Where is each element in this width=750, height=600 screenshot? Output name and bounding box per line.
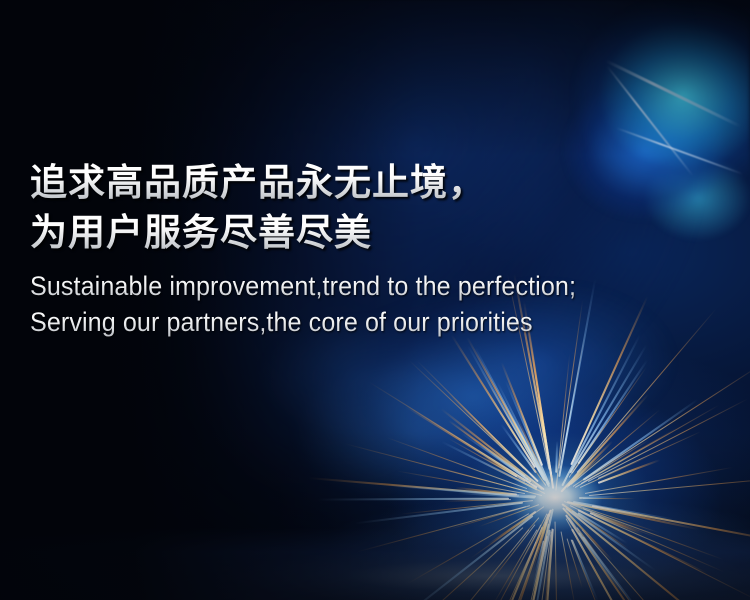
spark-ray — [510, 536, 548, 600]
spark-ray — [485, 541, 537, 600]
spark-ray — [483, 455, 518, 477]
spark-ray — [510, 536, 547, 600]
spark-ray — [526, 458, 547, 486]
spark-ray — [488, 511, 537, 545]
spark-ray — [573, 501, 673, 520]
spark-ray — [308, 477, 519, 496]
spark-ray — [563, 501, 658, 539]
spark-ray — [571, 528, 673, 600]
spark-ray — [543, 528, 553, 600]
spark-ray — [581, 529, 682, 600]
spark-ray — [474, 348, 535, 462]
spark-ray — [354, 502, 523, 524]
slogan-chinese-line-1: 追求高品质产品永无止境， — [30, 158, 690, 208]
spark-ray — [574, 404, 718, 487]
spark-ray — [555, 521, 558, 600]
slogan-english-line-1: Sustainable improvement,trend to the per… — [30, 268, 644, 304]
spark-ray — [527, 323, 554, 489]
spark-ray — [582, 399, 697, 480]
spark-ray — [489, 448, 519, 471]
spark-ray — [449, 421, 542, 490]
spark-ray — [592, 505, 750, 544]
spark-ray — [479, 443, 529, 480]
spark-ray — [578, 510, 708, 575]
spark-ray — [532, 514, 551, 572]
spark-ray — [569, 505, 750, 600]
spark-ray — [469, 526, 544, 600]
spark-ray — [448, 420, 526, 478]
spark-ray — [408, 528, 523, 600]
spark-ray — [498, 541, 545, 600]
spark-ray — [506, 510, 552, 600]
spark-ray — [567, 441, 613, 487]
spark-ray — [572, 540, 599, 600]
spark-ray — [522, 532, 551, 600]
spark-ray — [518, 517, 539, 540]
spark-ray — [578, 360, 648, 465]
spark-ray — [486, 492, 536, 498]
spark-ray — [536, 521, 548, 553]
spark-ray — [525, 514, 549, 568]
slogan-english-block: Sustainable improvement,trend to the per… — [30, 268, 690, 340]
spark-ray — [561, 393, 650, 492]
spark-ray — [517, 418, 549, 485]
spark-ray — [570, 503, 659, 533]
spark-ray — [563, 507, 613, 561]
spark-ray — [583, 536, 643, 600]
spark-ray — [496, 381, 550, 487]
spark-ray — [538, 529, 554, 600]
spark-ray — [500, 423, 537, 473]
spark-ray — [572, 454, 621, 487]
spark-ray — [505, 380, 550, 485]
spark-ray — [485, 524, 536, 589]
spark-ray — [444, 499, 512, 502]
spark-ray — [449, 438, 526, 482]
slogan-english-line-2: Serving our partners,the core of our pri… — [30, 304, 644, 340]
spark-ray — [555, 441, 558, 473]
spark-ray — [578, 512, 628, 544]
spark-ray — [422, 462, 543, 496]
spark-ray — [492, 529, 537, 600]
spark-ray — [598, 459, 660, 484]
spark-ray — [571, 540, 605, 600]
spark-ray — [389, 485, 517, 497]
spark-ray — [357, 506, 526, 552]
spark-ray — [571, 410, 660, 485]
spark-ray — [535, 540, 545, 572]
spark-ray — [478, 460, 545, 494]
spark-ray — [501, 363, 543, 467]
spark-ray — [400, 500, 533, 515]
spark-ray — [562, 503, 629, 549]
spark-ray — [525, 513, 548, 556]
spark-ray — [568, 517, 658, 600]
spark-ray — [593, 363, 750, 474]
spark-ray — [590, 512, 644, 535]
spark-ray — [577, 527, 599, 556]
slogan-block: 追求高品质产品永无止境， 为用户服务尽善尽美 Sustainable impro… — [30, 158, 690, 340]
spark-ray — [561, 335, 640, 487]
spark-ray — [535, 519, 551, 578]
spark-ray — [567, 501, 699, 530]
spark-ray — [572, 511, 657, 572]
spark-ray — [466, 338, 543, 477]
spark-ray — [567, 453, 605, 488]
spark-ray — [579, 532, 627, 597]
spark-ray — [467, 345, 545, 480]
spark-ray — [562, 333, 585, 454]
spark-ray — [449, 505, 530, 530]
spark-ray — [440, 408, 544, 490]
spark-ray — [585, 440, 650, 481]
spark-ray — [417, 360, 534, 477]
spark-ray — [429, 529, 530, 600]
spark-ray — [567, 539, 583, 589]
spark-ray — [368, 381, 530, 483]
spark-ray — [569, 445, 591, 477]
spark-ray — [594, 515, 725, 573]
spark-ray — [584, 467, 732, 494]
spark-ray — [555, 354, 570, 490]
spark-ray — [386, 436, 527, 488]
spark-ray — [397, 470, 525, 494]
spark-ray — [409, 361, 524, 470]
spark-ray — [460, 432, 531, 482]
spark-ray — [471, 506, 544, 558]
spark-ray — [441, 441, 537, 490]
spark-ray — [583, 508, 724, 560]
spark-ray — [598, 432, 701, 480]
spark-ray — [455, 487, 517, 495]
spark-ray — [583, 498, 635, 499]
spark-ray — [344, 443, 527, 492]
spark-ray — [448, 393, 539, 483]
spark-ray — [572, 367, 647, 474]
spark-ray — [533, 530, 548, 593]
spark-ray — [566, 515, 654, 600]
spark-ray — [487, 382, 545, 481]
spark-ray — [479, 504, 539, 527]
spark-ray — [531, 524, 549, 593]
spark-ray — [316, 498, 508, 501]
spark-ray — [407, 513, 529, 584]
spark-ray — [580, 455, 650, 487]
hero-banner: 追求高品质产品永无止境， 为用户服务尽善尽美 Sustainable impro… — [0, 0, 750, 600]
slogan-chinese-line-2: 为用户服务尽善尽美 — [30, 208, 690, 258]
spark-ray — [566, 518, 612, 599]
spark-ray — [484, 525, 541, 600]
spark-ray — [458, 492, 535, 498]
spark-ray — [394, 516, 533, 600]
spark-ray — [588, 398, 748, 482]
helmet-frame-edge-top — [605, 59, 741, 127]
spark-ray — [565, 507, 731, 600]
spark-ray — [523, 509, 553, 600]
spark-ray — [525, 530, 550, 600]
spark-ray — [451, 334, 536, 468]
spark-ray — [579, 496, 617, 499]
spark-ray — [589, 476, 750, 496]
spark-ray — [570, 345, 647, 473]
spark-ray — [495, 543, 540, 600]
spark-ray — [581, 428, 677, 484]
spark-ray — [405, 406, 537, 489]
spark-ray — [480, 368, 541, 472]
spark-ray — [561, 531, 577, 600]
